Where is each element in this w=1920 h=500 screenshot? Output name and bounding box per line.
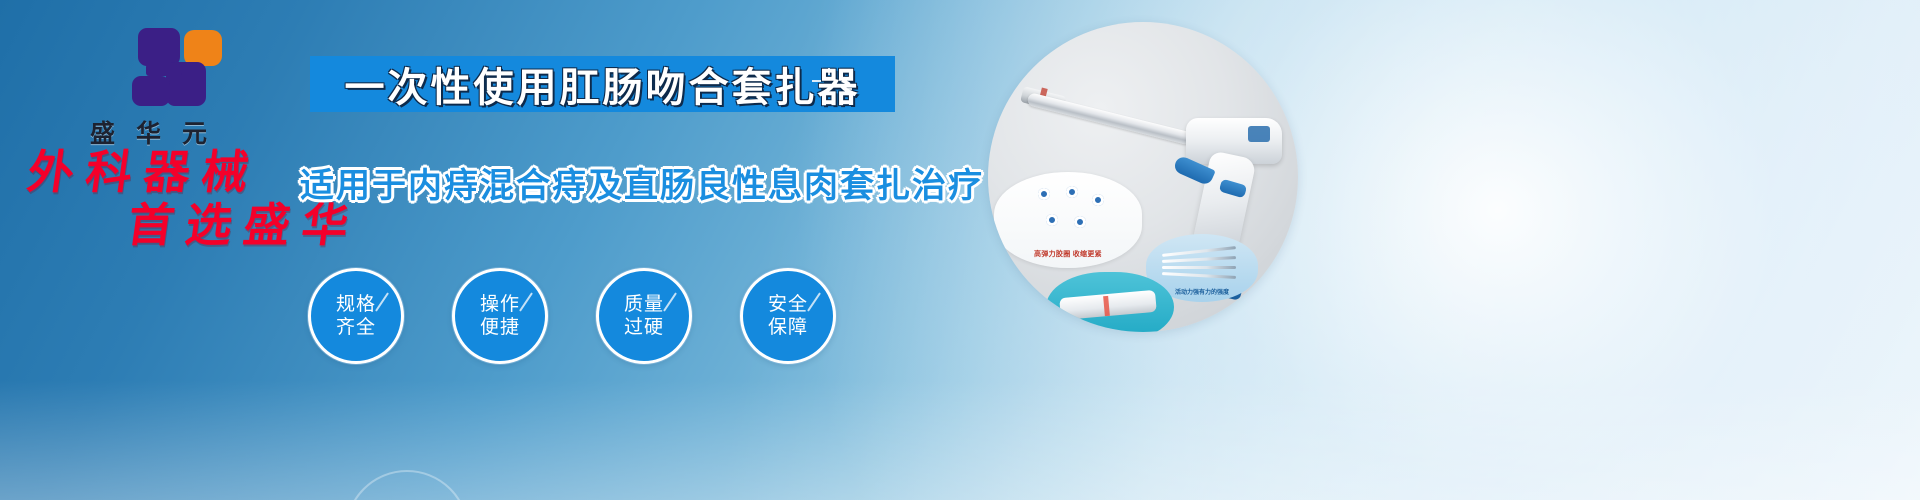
subtitle: 适用于内痔混合痔及直肠良性息肉套扎治疗 xyxy=(300,158,940,207)
badge-label-line1: 质量 xyxy=(624,293,664,316)
ligation-ring-icon xyxy=(1066,186,1078,198)
slash-accent-icon xyxy=(663,292,677,311)
ligation-ring-icon xyxy=(1046,214,1058,226)
ligation-ring-icon xyxy=(1092,194,1104,206)
badge-label-line2: 过硬 xyxy=(624,316,664,339)
sparkle-icon xyxy=(828,68,830,75)
logo-square-purple-top xyxy=(138,28,180,66)
needle-icon xyxy=(1162,266,1236,269)
feature-badge-list: 规格 齐全 操作 便捷 质量 过硬 安全 保障 xyxy=(308,268,836,364)
slash-accent-icon xyxy=(375,292,389,311)
bottom-fade-overlay xyxy=(0,380,1920,500)
badge-label-line2: 齐全 xyxy=(336,316,376,339)
feature-badge[interactable]: 安全 保障 xyxy=(740,268,836,364)
badge-label-line2: 便捷 xyxy=(480,316,520,339)
inset-teal-card xyxy=(1046,272,1174,332)
feature-badge[interactable]: 规格 齐全 xyxy=(308,268,404,364)
badge-label-line1: 安全 xyxy=(768,293,808,316)
badge-label-line1: 操作 xyxy=(480,293,520,316)
promo-banner: 盛 华 元 外科器械 首选盛华 一次性使用肛肠吻合套扎器 适用于内痔混合痔及直肠… xyxy=(0,0,1920,500)
logo-connector-bar xyxy=(146,64,182,76)
ligation-ring-icon xyxy=(1074,216,1086,228)
slash-accent-icon xyxy=(807,292,821,311)
feature-badge[interactable]: 操作 便捷 xyxy=(452,268,548,364)
needle-icon xyxy=(1162,272,1236,279)
badge-label-line1: 规格 xyxy=(336,293,376,316)
headline-band: 一次性使用肛肠吻合套扎器 xyxy=(310,56,895,112)
logo-square-purple-bottom xyxy=(132,76,170,106)
needle-icon xyxy=(1162,246,1236,257)
device-control-buttons xyxy=(1248,126,1270,142)
sparkle-icon xyxy=(845,88,852,90)
badge-label-line2: 保障 xyxy=(768,316,808,339)
slash-accent-icon xyxy=(519,292,533,311)
page-title: 一次性使用肛肠吻合套扎器 xyxy=(345,55,861,113)
inset-rings-caption: 高弹力胶圈 收缩更紧 xyxy=(1012,249,1124,259)
sparkle-icon xyxy=(812,80,821,82)
inset-rings-card: 高弹力胶圈 收缩更紧 xyxy=(994,172,1142,268)
needle-icon xyxy=(1162,256,1236,263)
product-photo: 高弹力胶圈 收缩更紧 活动力强有力的强度 xyxy=(988,22,1298,332)
device-barrel xyxy=(1026,92,1192,145)
ligation-ring-icon xyxy=(1038,188,1050,200)
feature-badge[interactable]: 质量 过硬 xyxy=(596,268,692,364)
brand-logo[interactable]: 盛 华 元 xyxy=(62,28,242,150)
logo-square-orange xyxy=(184,30,222,66)
shenghuayuan-logo-mark-icon xyxy=(106,28,198,106)
calligraphy-line-2: 首选盛华 xyxy=(15,201,442,250)
decorative-circle xyxy=(345,470,469,500)
